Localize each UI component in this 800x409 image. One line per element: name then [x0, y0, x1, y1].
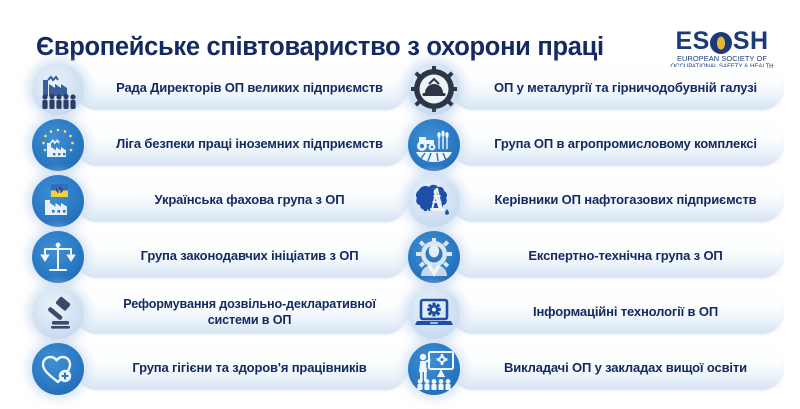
teacher-whiteboard-icon: [408, 343, 460, 395]
factory-with-people-icon: [32, 63, 84, 115]
item-pill[interactable]: Реформування дозвільно-декларативної сис…: [76, 291, 407, 333]
factory-eu-stars-icon: [32, 119, 84, 171]
list-item-label: Рада Директорів ОП великих підприємств: [102, 80, 397, 96]
list-item[interactable]: Реформування дозвільно-декларативної сис…: [32, 286, 407, 341]
list-item[interactable]: Група гігієни та здоров'я працівників: [32, 342, 407, 397]
laptop-gear-icon: [408, 287, 460, 339]
list-item-label: Інформаційні технології в ОП: [478, 304, 773, 320]
flame-circle-icon: [710, 32, 732, 54]
item-pill[interactable]: Рада Директорів ОП великих підприємств: [76, 67, 407, 109]
header: Європейське співтовариство з охорони пра…: [0, 14, 800, 62]
heart-with-cross-icon: [32, 343, 84, 395]
list-item[interactable]: Експертно-технічна група з ОП: [408, 230, 783, 285]
page-title: Європейське співтовариство з охорони пра…: [36, 32, 656, 62]
list-item-label: Експертно-технічна група з ОП: [478, 248, 773, 264]
item-pill[interactable]: Керівники ОП нафтогазових підприємств: [452, 179, 783, 221]
list-item-label: Керівники ОП нафтогазових підприємств: [478, 192, 773, 208]
item-pill[interactable]: Викладачі ОП у закладах вищої освіти: [452, 347, 783, 389]
scales-of-justice-icon: [32, 231, 84, 283]
list-item-label: Група законодавчих ініціатив з ОП: [102, 248, 397, 264]
logo-text-part2: SH: [733, 28, 769, 54]
left-column: Рада Директорів ОП великих підприємств Л…: [32, 62, 407, 398]
item-pill[interactable]: ОП у металургії та гірничодобувній галуз…: [452, 67, 783, 109]
list-item-label: ОП у металургії та гірничодобувній галуз…: [478, 80, 773, 96]
logo-text-part1: ES: [675, 28, 709, 54]
list-item[interactable]: Рада Директорів ОП великих підприємств: [32, 62, 407, 117]
item-pill[interactable]: Група законодавчих ініціатив з ОП: [76, 235, 407, 277]
item-pill[interactable]: Українська фахова група з ОП: [76, 179, 407, 221]
list-item-label: Ліга безпеки праці іноземних підприємств: [102, 136, 397, 152]
item-pill[interactable]: Ліга безпеки праці іноземних підприємств: [76, 123, 407, 165]
list-item-label: Реформування дозвільно-декларативної сис…: [102, 296, 397, 328]
list-item[interactable]: Керівники ОП нафтогазових підприємств: [408, 174, 783, 229]
item-pill[interactable]: Експертно-технічна група з ОП: [452, 235, 783, 277]
right-column: ОП у металургії та гірничодобувній галуз…: [408, 62, 783, 398]
list-item-label: Українська фахова група з ОП: [102, 192, 397, 208]
item-pill[interactable]: Група ОП в агропромисловому комплексі: [452, 123, 783, 165]
item-pill[interactable]: Інформаційні технології в ОП: [452, 291, 783, 333]
list-item[interactable]: ОП у металургії та гірничодобувній галуз…: [408, 62, 783, 117]
oil-derrick-gear-icon: [408, 175, 460, 227]
gavel-icon: [32, 287, 84, 339]
person-in-gear-icon: [408, 231, 460, 283]
list-item-label: Викладачі ОП у закладах вищої освіти: [478, 360, 773, 376]
logo-wordmark: ES SH: [660, 28, 784, 54]
item-pill[interactable]: Група гігієни та здоров'я працівників: [76, 347, 407, 389]
factory-ukraine-flag-icon: [32, 175, 84, 227]
list-item[interactable]: Ліга безпеки праці іноземних підприємств: [32, 118, 407, 173]
gear-miner-helmet-icon: [408, 63, 460, 115]
list-item[interactable]: Викладачі ОП у закладах вищої освіти: [408, 342, 783, 397]
list-item[interactable]: Інформаційні технології в ОП: [408, 286, 783, 341]
list-item[interactable]: Група ОП в агропромисловому комплексі: [408, 118, 783, 173]
list-item[interactable]: Українська фахова група з ОП: [32, 174, 407, 229]
list-item[interactable]: Група законодавчих ініціатив з ОП: [32, 230, 407, 285]
tractor-field-icon: [408, 119, 460, 171]
list-item-label: Група ОП в агропромисловому комплексі: [478, 136, 773, 152]
list-item-label: Група гігієни та здоров'я працівників: [102, 360, 397, 376]
